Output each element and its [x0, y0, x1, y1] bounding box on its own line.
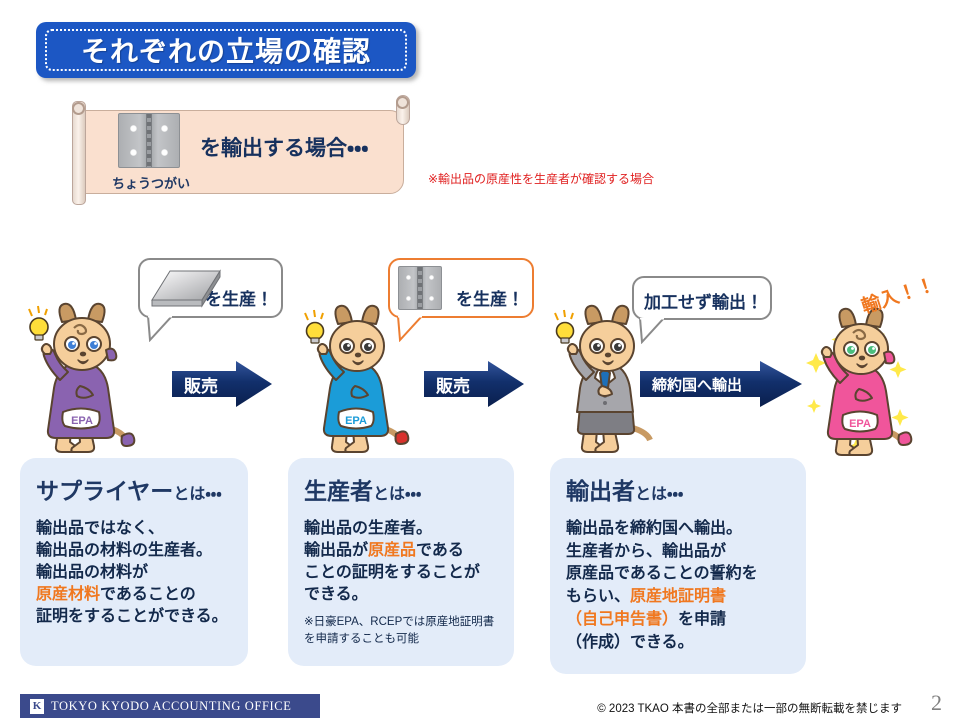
supplier-card-heading: サプライヤーとは・・・: [36, 472, 232, 506]
card-body-line: （自己申告書）を申請: [566, 609, 790, 632]
scroll-roll-left: [72, 101, 86, 205]
scroll-curl-left-icon: [72, 102, 85, 115]
mascot-pouch-label: EPA: [71, 415, 93, 427]
body-text: もらい、: [566, 588, 630, 605]
arrow-sale-1-label: 販売: [184, 377, 218, 396]
banner-text: を輸出する場合・・・: [200, 132, 368, 162]
mascot-pouch-label: EPA: [849, 418, 871, 430]
exporter-mascot: [546, 302, 666, 460]
hinge-icon-caption: ちょうつがい: [112, 173, 190, 192]
hinge-pin: [146, 114, 152, 167]
card-body-line: 輸出品の材料の生産者。: [36, 540, 232, 562]
body-text: （作成）できる。: [566, 634, 694, 651]
importer-mascot: EPA: [800, 305, 920, 463]
highlighted-term: 原産品: [368, 542, 416, 559]
producer-mascot: EPA: [296, 302, 416, 460]
hinge-hole: [161, 149, 168, 156]
body-text: できる。: [304, 586, 368, 603]
card-body-line: 輸出品の材料が: [36, 562, 232, 584]
hinge-hole: [130, 125, 137, 132]
producer-card-body: 輸出品の生産者。輸出品が原産品であることの証明をすることができる。: [304, 518, 498, 606]
producer-card-note: ※日豪EPA、RCEPでは原産地証明書を申請することも可能: [304, 614, 498, 647]
highlighted-term: 原産材料: [36, 586, 100, 603]
arrow-sale-1-label-wrap: 販売: [184, 372, 218, 397]
supplier-mascot: EPA: [18, 300, 144, 460]
slide-title-banner: それぞれの立場の確認: [36, 22, 416, 78]
supplier-card-suffix: とは・・・: [173, 486, 221, 503]
card-body-line: 原産品であることの誓約を: [566, 563, 790, 586]
producer-card-suffix: とは・・・: [373, 486, 421, 503]
arrow-sale-2-label-wrap: 販売: [436, 372, 470, 397]
supplier-card-term: サプライヤー: [36, 478, 173, 504]
card-body-line: 輸出品の生産者。: [304, 518, 498, 540]
hinge-hole: [161, 125, 168, 132]
hinge-pin: [417, 267, 423, 309]
card-body-line: ことの証明をすることが: [304, 562, 498, 584]
producer-card-heading: 生産者とは・・・: [304, 472, 498, 506]
exporter-card-term: 輸出者: [566, 478, 635, 504]
producer-bubble-label: を生産！: [456, 285, 524, 310]
supplier-bubble-tail: [146, 316, 176, 342]
card-body-line: 生産者から、輸出品が: [566, 541, 790, 564]
card-body-line: （作成）できる。: [566, 632, 790, 655]
exporter-definition-card: 輸出者とは・・・ 輸出品を締約国へ輸出。生産者から、輸出品が原産品であることの誓…: [550, 458, 806, 674]
body-text: 輸出品を締約国へ輸出。: [566, 520, 742, 537]
body-text: 輸出品の材料が: [36, 564, 148, 581]
body-text: であることの: [100, 586, 196, 603]
hinge-icon: [118, 113, 180, 168]
footer-logo-bar: K TOKYO KYODO ACCOUNTING OFFICE: [20, 694, 320, 718]
card-body-line: もらい、原産地証明書: [566, 586, 790, 609]
supplier-definition-card: サプライヤーとは・・・ 輸出品ではなく、輸出品の材料の生産者。輸出品の材料が原産…: [20, 458, 248, 666]
body-text: 証明をすることができる。: [36, 608, 228, 625]
page-number: 2: [931, 690, 942, 716]
body-text: 輸出品ではなく、: [36, 520, 164, 537]
producer-card-term: 生産者: [304, 478, 373, 504]
body-text: 生産者から、輸出品が: [566, 543, 726, 560]
page-title: それぞれの立場の確認: [36, 22, 416, 78]
body-text: 輸出品が: [304, 542, 368, 559]
banner-red-note: ※輸出品の原産性を生産者が確認する場合: [428, 170, 654, 187]
hinge-hole: [429, 275, 434, 280]
body-text: を申請: [678, 611, 726, 628]
arrow-sale-2-label: 販売: [436, 377, 470, 396]
copyright-notice: © 2023 TKAO 本書の全部または一部の無断転載を禁じます: [597, 700, 902, 716]
supplier-card-body: 輸出品ではなく、輸出品の材料の生産者。輸出品の材料が原産材料であることの証明をす…: [36, 518, 232, 628]
hinge-hole: [429, 296, 434, 301]
card-body-line: できる。: [304, 584, 498, 606]
highlighted-term: （自己申告書）: [566, 611, 678, 628]
card-body-line: 原産材料であることの: [36, 584, 232, 606]
body-text: 原産品であることの誓約を: [566, 565, 758, 582]
company-name: TOKYO KYODO ACCOUNTING OFFICE: [51, 699, 291, 714]
exporter-card-suffix: とは・・・: [635, 486, 683, 503]
slide-canvas: それぞれの立場の確認 ちょうつがい を輸出する場合・・・ ※輸出品の原産性を生産…: [0, 0, 960, 720]
mascot-pouch-label: EPA: [345, 415, 367, 427]
body-text: 輸出品の生産者。: [304, 520, 432, 537]
hinge-hole: [406, 296, 411, 301]
scroll-curl-right-icon: [396, 96, 409, 109]
highlighted-term: 原産地証明書: [630, 588, 726, 605]
body-text: である: [416, 542, 464, 559]
exporter-card-heading: 輸出者とは・・・: [566, 472, 790, 506]
producer-definition-card: 生産者とは・・・ 輸出品の生産者。輸出品が原産品であることの証明をすることができ…: [288, 458, 514, 666]
card-body-line: 輸出品が原産品である: [304, 540, 498, 562]
company-logo-icon: K: [30, 699, 44, 714]
exporter-card-body: 輸出品を締約国へ輸出。生産者から、輸出品が原産品であることの誓約をもらい、原産地…: [566, 518, 790, 654]
body-text: 輸出品の材料の生産者。: [36, 542, 212, 559]
hinge-hole: [406, 275, 411, 280]
metal-plate-icon: [150, 268, 222, 310]
body-text: ことの証明をすることが: [304, 564, 480, 581]
card-body-line: 証明をすることができる。: [36, 606, 232, 628]
card-body-line: 輸出品ではなく、: [36, 518, 232, 540]
card-body-line: 輸出品を締約国へ輸出。: [566, 518, 790, 541]
hinge-hole: [130, 149, 137, 156]
